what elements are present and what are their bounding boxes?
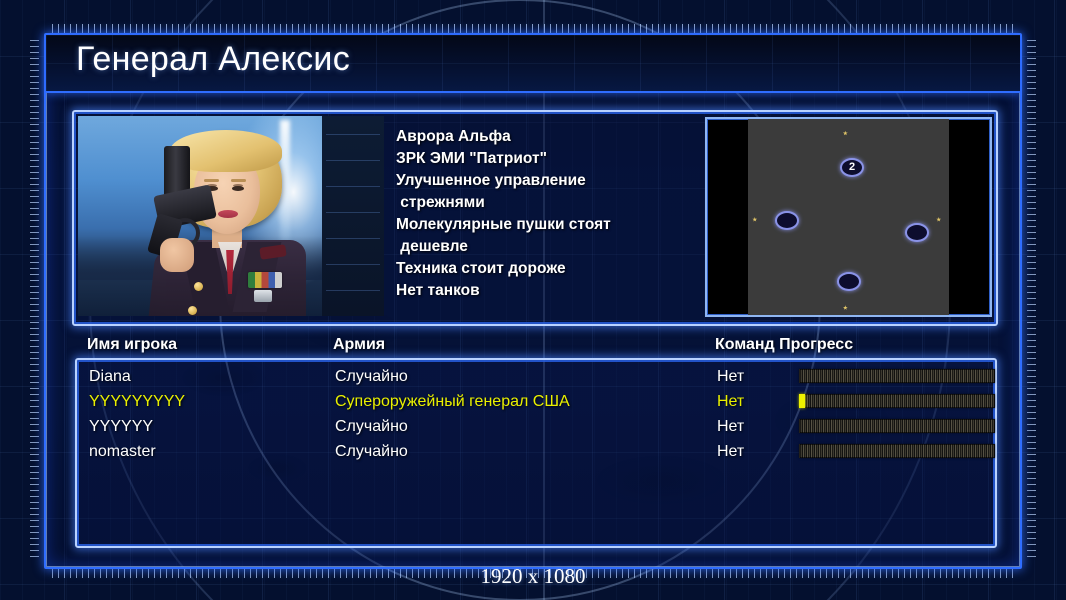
description-line: стрежнями bbox=[396, 192, 692, 214]
team-cell: Нет bbox=[717, 389, 744, 414]
progress-bar bbox=[799, 419, 995, 433]
description-line: Нет танков bbox=[396, 280, 692, 302]
team-cell: Нет bbox=[717, 364, 744, 389]
eyebrow bbox=[231, 179, 246, 182]
player-name-cell: YYYYYYYYY bbox=[89, 389, 185, 414]
uniform-button bbox=[188, 306, 197, 315]
progress-bar bbox=[799, 394, 995, 408]
uniform-button bbox=[194, 282, 203, 291]
table-row[interactable]: DianaСлучайноНет bbox=[77, 364, 995, 389]
description-line: дешевле bbox=[396, 236, 692, 258]
general-description: Аврора Альфа ЗРК ЭМИ "Патриот" Улучшенно… bbox=[396, 126, 692, 302]
player-name-cell: nomaster bbox=[89, 439, 156, 464]
army-cell: Супероружейный генерал США bbox=[335, 389, 570, 414]
description-line: Улучшенное управление bbox=[396, 170, 692, 192]
column-header-player-name: Имя игрока bbox=[87, 336, 177, 354]
description-line: ЗРК ЭМИ "Патриот" bbox=[396, 148, 692, 170]
progress-bar bbox=[799, 369, 995, 383]
map-start-position bbox=[775, 211, 799, 230]
ruler-right bbox=[1027, 40, 1036, 560]
team-cell: Нет bbox=[717, 439, 744, 464]
map-start-position bbox=[837, 272, 861, 291]
player-table-header: Имя игрока Армия Команд Прогресс bbox=[75, 336, 993, 358]
army-cell: Случайно bbox=[335, 414, 408, 439]
army-cell: Случайно bbox=[335, 439, 408, 464]
officer-figure bbox=[136, 130, 328, 316]
description-line: Техника стоит дороже bbox=[396, 258, 692, 280]
player-name-cell: Diana bbox=[89, 364, 131, 389]
table-row[interactable]: nomasterСлучайноНет bbox=[77, 439, 995, 464]
officer-hand bbox=[160, 238, 194, 272]
ruler-top bbox=[52, 24, 1014, 33]
player-list-panel: DianaСлучайноНетYYYYYYYYYСупероружейный … bbox=[75, 358, 997, 548]
lips bbox=[218, 210, 238, 218]
eyebrow bbox=[204, 179, 219, 182]
medal-badge bbox=[254, 290, 272, 302]
general-info-panel: Аврора Альфа ЗРК ЭМИ "Патриот" Улучшенно… bbox=[72, 110, 998, 326]
army-cell: Случайно bbox=[335, 364, 408, 389]
table-row[interactable]: YYYYYYСлучайноНет bbox=[77, 414, 995, 439]
description-line: Молекулярные пушки стоят bbox=[396, 214, 692, 236]
table-row[interactable]: YYYYYYYYYСупероружейный генерал СШАНет bbox=[77, 389, 995, 414]
eye bbox=[232, 186, 244, 191]
general-portrait bbox=[78, 116, 384, 316]
map-preview[interactable]: 2 bbox=[705, 117, 992, 317]
team-cell: Нет bbox=[717, 414, 744, 439]
column-header-army: Армия bbox=[333, 336, 385, 354]
progress-bar bbox=[799, 444, 995, 458]
progress-bar-fill bbox=[799, 394, 805, 408]
resolution-label: 1920 x 1080 bbox=[0, 564, 1066, 589]
map-start-position bbox=[905, 223, 929, 242]
player-name-cell: YYYYYY bbox=[89, 414, 153, 439]
page-title: Генерал Алексис bbox=[76, 40, 350, 79]
column-header-team-progress: Команд Прогресс bbox=[715, 336, 853, 354]
game-screen: Генерал Алексис bbox=[0, 0, 1066, 600]
portrait-panel-edge bbox=[322, 116, 384, 316]
medal-ribbons bbox=[248, 272, 282, 288]
ruler-left bbox=[30, 40, 39, 560]
player-rows: DianaСлучайноНетYYYYYYYYYСупероружейный … bbox=[77, 364, 995, 464]
description-line: Аврора Альфа bbox=[396, 126, 692, 148]
